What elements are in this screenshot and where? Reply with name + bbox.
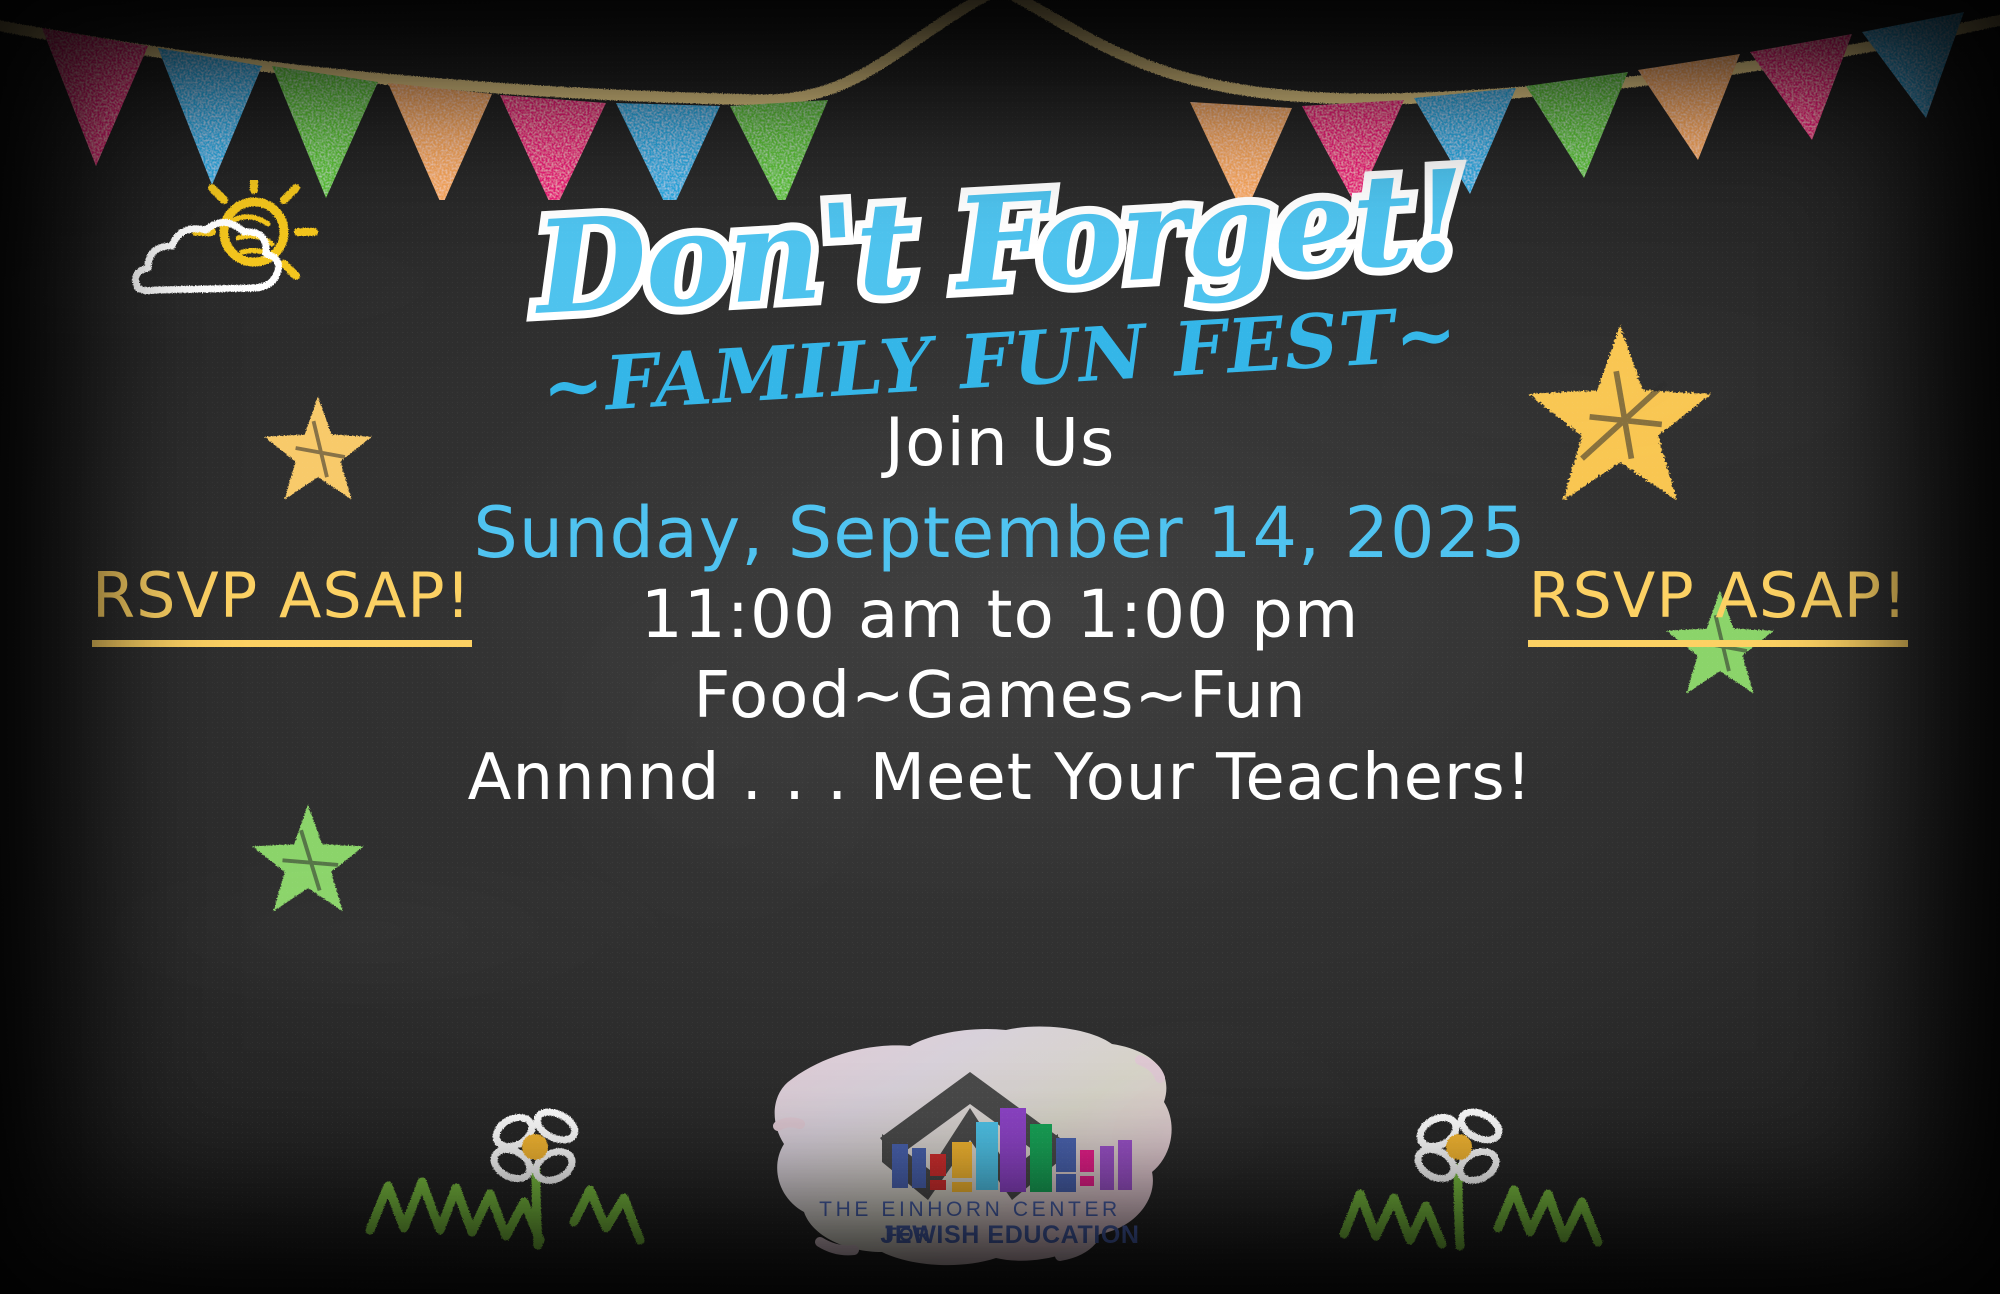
flyer-canvas: Don't Forget! ~FAMILY FUN FEST~ Join Us … bbox=[0, 0, 2000, 1294]
join-us-text: Join Us bbox=[0, 404, 2000, 481]
einhorn-center-logo: THE EINHORN CENTER FOR JEWISH EDUCATION bbox=[760, 1016, 1180, 1278]
daisy-icon bbox=[489, 1106, 579, 1186]
daisy-left-doodle bbox=[360, 1090, 660, 1294]
bunting-flag bbox=[158, 48, 262, 185]
logo-line1: THE EINHORN CENTER bbox=[819, 1198, 1121, 1221]
bunting-flag bbox=[388, 83, 492, 200]
star-green-left-icon bbox=[246, 800, 370, 916]
bunting-flag bbox=[272, 66, 378, 198]
meet-teachers-text: Annnnd . . . Meet Your Teachers! bbox=[0, 741, 2000, 815]
bunting-flag bbox=[42, 28, 148, 166]
rsvp-label-right: RSVP ASAP! bbox=[1528, 559, 1908, 647]
logo-line2-bold: JEWISH EDUCATION bbox=[880, 1221, 1139, 1249]
bunting-flag bbox=[1750, 34, 1852, 140]
rsvp-label-left: RSVP ASAP! bbox=[92, 559, 472, 647]
daisy-icon bbox=[1413, 1106, 1503, 1186]
bunting-flag bbox=[1862, 12, 1964, 118]
activities-text: Food~Games~Fun bbox=[0, 659, 2000, 733]
daisy-right-doodle bbox=[1330, 1086, 1630, 1294]
bunting-flag bbox=[500, 95, 606, 200]
